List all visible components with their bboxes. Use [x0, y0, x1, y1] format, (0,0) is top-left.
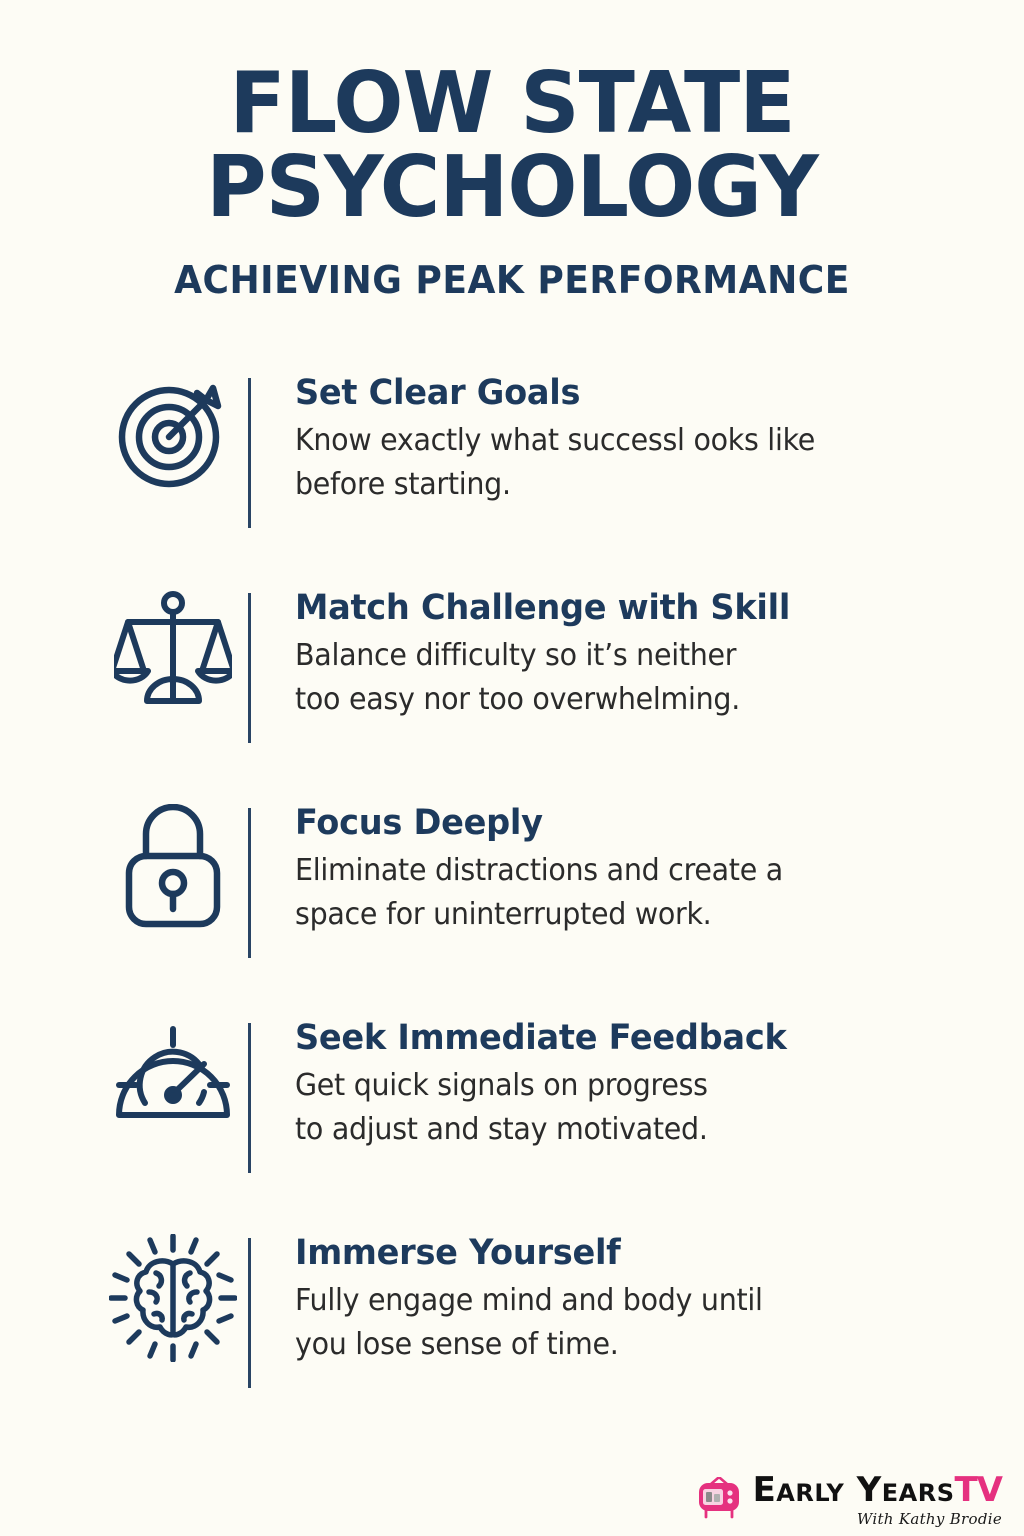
list-item: Set Clear Goals Know exactly what succes… — [0, 368, 1024, 583]
item-description-line-1: Get quick signals on progress — [295, 1064, 781, 1107]
item-description-line-2: before starting. — [295, 463, 815, 506]
item-title: Match Challenge with Skill — [295, 589, 790, 628]
item-text: Immerse Yourself Fully engage mind and b… — [251, 1228, 787, 1366]
page-title: FLOW STATE PSYCHOLOGY — [15, 62, 1008, 230]
logo-text: Early YearsTV With Kathy Brodie — [753, 1473, 1002, 1528]
list-item: Focus Deeply Eliminate distractions and … — [0, 798, 1024, 1013]
item-description-line-1: Know exactly what successl ooks like — [295, 419, 815, 462]
item-text: Match Challenge with Skill Balance diffi… — [251, 583, 811, 721]
item-description-line-1: Eliminate distractions and create a — [295, 849, 783, 892]
item-description-line-2: space for uninterrupted work. — [295, 893, 783, 936]
gauge-icon — [98, 1013, 248, 1129]
item-title: Seek Immediate Feedback — [295, 1019, 787, 1058]
item-description-line-1: Balance difficulty so it’s neither — [295, 634, 785, 677]
item-description-line-1: Fully engage mind and body until — [295, 1279, 763, 1322]
logo-name-primary: Early Years — [753, 1470, 955, 1510]
item-description-line-2: too easy nor too overwhelming. — [295, 678, 785, 721]
item-divider — [248, 808, 251, 958]
item-description: Balance difficulty so it’s neither too e… — [295, 634, 785, 720]
tips-list: Set Clear Goals Know exactly what succes… — [0, 368, 1024, 1443]
logo-name: Early YearsTV — [753, 1473, 1002, 1507]
brain-rays-icon — [98, 1228, 248, 1362]
brand-logo: Early YearsTV With Kathy Brodie — [697, 1473, 1002, 1528]
list-item: Match Challenge with Skill Balance diffi… — [0, 583, 1024, 798]
item-divider — [248, 378, 251, 528]
item-divider — [248, 1023, 251, 1173]
item-title: Focus Deeply — [295, 804, 788, 843]
item-description: Eliminate distractions and create a spac… — [295, 849, 783, 935]
header: FLOW STATE PSYCHOLOGY ACHIEVING PEAK PER… — [0, 0, 1024, 302]
list-item: Immerse Yourself Fully engage mind and b… — [0, 1228, 1024, 1443]
item-text: Seek Immediate Feedback Get quick signal… — [251, 1013, 807, 1151]
brain-body — [136, 1261, 209, 1335]
item-text: Focus Deeply Eliminate distractions and … — [251, 798, 809, 936]
page-subtitle: ACHIEVING PEAK PERFORMANCE — [26, 258, 999, 302]
item-title: Immerse Yourself — [295, 1234, 768, 1273]
balance-scales-icon — [98, 583, 248, 719]
item-text: Set Clear Goals Know exactly what succes… — [251, 368, 842, 506]
logo-tagline: With Kathy Brodie — [857, 1510, 1002, 1528]
item-divider — [248, 1238, 251, 1388]
retro-tv-icon — [697, 1477, 743, 1524]
item-description: Get quick signals on progress to adjust … — [295, 1064, 781, 1150]
lock-icon — [98, 798, 248, 932]
item-title: Set Clear Goals — [295, 374, 821, 413]
target-icon — [98, 368, 248, 492]
item-description: Fully engage mind and body until you los… — [295, 1279, 763, 1365]
logo-name-tv: TV — [954, 1470, 1002, 1510]
item-description-line-2: you lose sense of time. — [295, 1323, 763, 1366]
title-line-2: PSYCHOLOGY — [15, 146, 1008, 230]
item-description-line-2: to adjust and stay motivated. — [295, 1108, 781, 1151]
item-description: Know exactly what successl ooks like bef… — [295, 419, 815, 505]
item-divider — [248, 593, 251, 743]
list-item: Seek Immediate Feedback Get quick signal… — [0, 1013, 1024, 1228]
